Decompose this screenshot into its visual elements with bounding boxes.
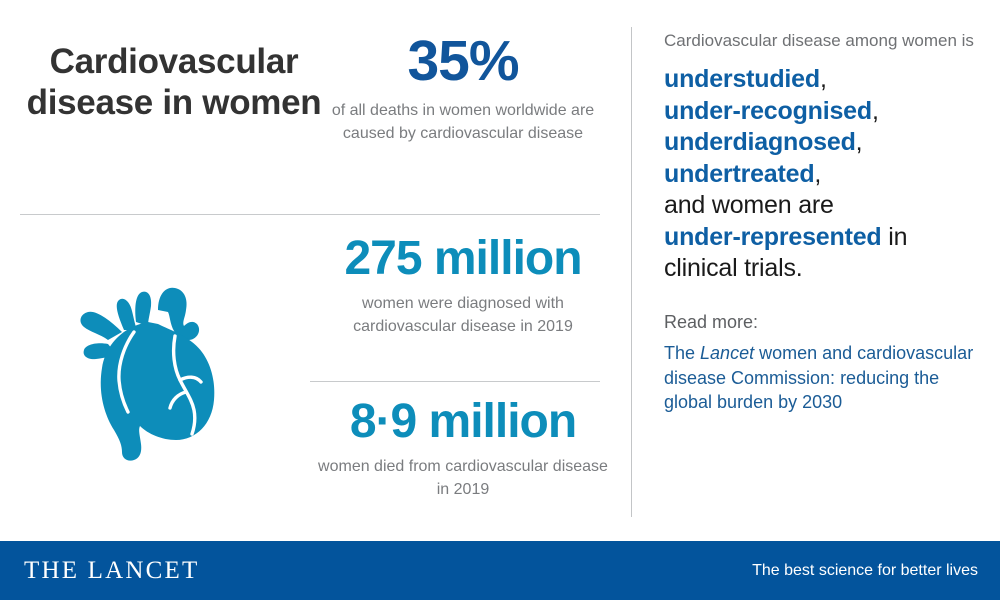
emphasis-trailing-2: ,: [856, 128, 863, 156]
stat-value-diagnosed: 275 million: [318, 235, 608, 283]
read-more-link-italic: Lancet: [700, 343, 754, 363]
vertical-divider: [631, 27, 632, 517]
emphasis-trailing-6: clinical trials.: [664, 254, 803, 282]
read-more-link-prefix: The: [664, 343, 700, 363]
infographic-root: Cardiovascular disease in women 35% of a…: [0, 0, 1000, 600]
stat-caption-percent-deaths: of all deaths in women worldwide are cau…: [318, 100, 608, 145]
emphasis-line-understudied: understudied,: [664, 64, 990, 96]
content-area: Cardiovascular disease in women 35% of a…: [0, 0, 1000, 541]
footer-bar: THE LANCET The best science for better l…: [0, 541, 1000, 600]
stat-value-percent-deaths: 35%: [318, 33, 608, 90]
stat-percent-deaths: 35% of all deaths in women worldwide are…: [318, 33, 608, 145]
right-panel-lede: Cardiovascular disease among women is: [664, 30, 990, 52]
lancet-logo[interactable]: THE LANCET: [24, 557, 199, 585]
read-more-link[interactable]: The Lancet women and cardiovascular dise…: [664, 341, 990, 415]
stat-value-died: 8·9 million: [318, 398, 608, 446]
emphasis-line-under-represented: under-represented in: [664, 222, 990, 254]
emphasis-line-underdiagnosed: underdiagnosed,: [664, 127, 990, 159]
stat-caption-died: women died from cardiovascular disease i…: [318, 456, 608, 501]
read-more-label: Read more:: [664, 311, 990, 334]
anatomical-heart-icon: [62, 272, 242, 472]
emphasis-trailing-3: ,: [814, 160, 821, 188]
footer-tagline: The best science for better lives: [752, 562, 978, 580]
emphasis-word-under-represented: under-represented: [664, 223, 882, 251]
emphasis-line-under-recognised: under-recognised,: [664, 96, 990, 128]
right-panel: Cardiovascular disease among women is un…: [664, 30, 990, 415]
emphasis-trailing-1: ,: [872, 97, 879, 125]
horizontal-divider-main: [20, 214, 600, 215]
emphasis-word-underdiagnosed: underdiagnosed: [664, 128, 856, 156]
emphasis-line-clinical-trials: clinical trials.: [664, 253, 990, 285]
emphasis-list: understudied, under-recognised, underdia…: [664, 64, 990, 285]
page-title: Cardiovascular disease in women: [24, 42, 324, 124]
emphasis-word-understudied: understudied: [664, 65, 820, 93]
emphasis-word-under-recognised: under-recognised: [664, 97, 872, 125]
emphasis-word-undertreated: undertreated: [664, 160, 814, 188]
emphasis-trailing-0: ,: [820, 65, 827, 93]
emphasis-trailing-5: in: [882, 223, 908, 251]
emphasis-line-undertreated: undertreated,: [664, 159, 990, 191]
emphasis-trailing-4: and women are: [664, 191, 834, 219]
stat-caption-diagnosed: women were diagnosed with cardiovascular…: [318, 293, 608, 338]
emphasis-line-and-women-are: and women are: [664, 190, 990, 222]
stat-diagnosed: 275 million women were diagnosed with ca…: [318, 235, 608, 338]
stat-died: 8·9 million women died from cardiovascul…: [318, 398, 608, 501]
horizontal-divider-short: [310, 381, 600, 382]
heart-illustration: [62, 272, 242, 472]
